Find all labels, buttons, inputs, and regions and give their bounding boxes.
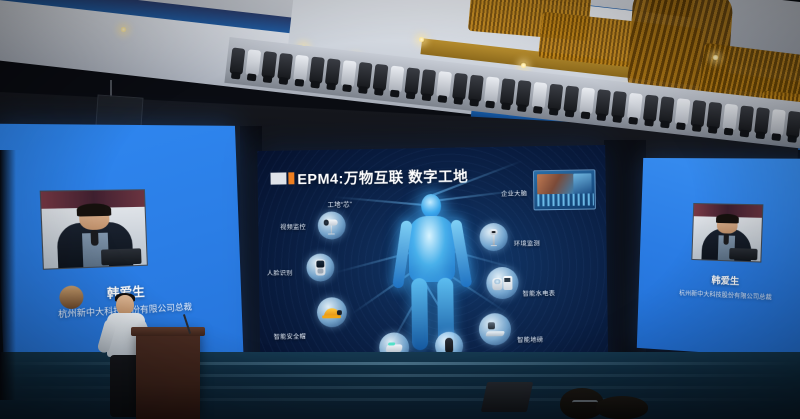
podium: [136, 332, 200, 419]
environment-sensor-icon: [479, 223, 507, 251]
slide-title: EPM4:万物互联 数字工地: [297, 165, 468, 189]
downlight-icon: [418, 36, 425, 43]
smart-weighbridge-icon: [479, 313, 512, 345]
audience-member: [596, 396, 648, 419]
right-screen-video-feed: [691, 203, 763, 263]
downlight-icon: [712, 54, 719, 61]
slide-label-utility-meter: 智能水电表: [523, 288, 556, 297]
slide-label-environment: 环境监测: [514, 238, 540, 247]
stage-monitor-speaker: [481, 382, 533, 412]
downlight-icon: [120, 26, 127, 33]
left-shadow-edge: [0, 150, 16, 400]
surveillance-camera-icon: [318, 211, 346, 239]
right-led-screen: 韩爱生 杭州新中大科技股份有限公司总裁: [637, 158, 800, 360]
left-screen-video-feed: [40, 189, 148, 270]
downlight-icon: [520, 62, 527, 69]
slide-label-face-recognition: 人脸识别: [267, 268, 293, 277]
slide-label-core-chip: 工地“芯”: [327, 199, 352, 208]
slide-label-smart-helmet: 智能安全帽: [274, 332, 306, 341]
eyeglasses-icon: [572, 400, 598, 405]
slide-label-enterprise-brain: 企业大脑: [501, 188, 527, 197]
enterprise-brain-dashboard-icon: [533, 169, 596, 210]
title-marker-icon: [270, 172, 294, 184]
smart-helmet-icon: [317, 297, 347, 327]
slide-label-surveillance: 视频监控: [280, 222, 306, 231]
glowing-human-figure: [394, 193, 470, 350]
conference-stage-scene: 韩爱生 杭州新中大科技股份有限公司总裁 韩爱生 杭州新中大科技股份有限公司总裁 …: [0, 0, 800, 419]
smart-utility-meter-icon: [486, 267, 519, 299]
face-recognition-icon: [306, 253, 334, 281]
slide-label-weighbridge: 智能地磅: [517, 335, 543, 344]
